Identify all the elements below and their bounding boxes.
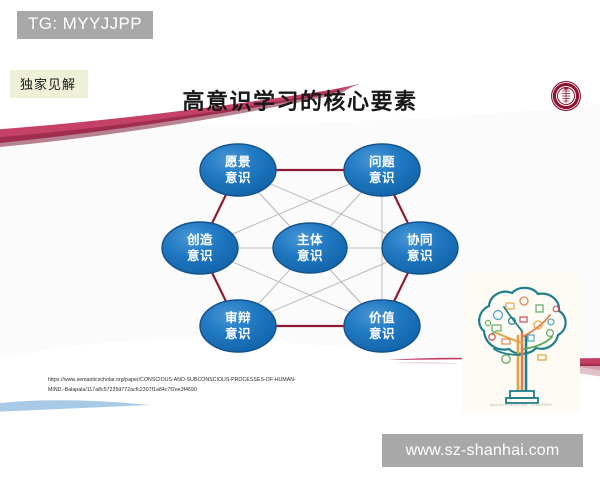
node-problem-label-1: 问题 (369, 154, 395, 169)
node-critical-label-2: 意识 (225, 326, 251, 341)
node-critical-label-1: 审辩 (225, 310, 251, 325)
node-collaboration[interactable]: 协同 意识 (382, 222, 458, 274)
node-problem-label-2: 意识 (369, 170, 395, 185)
node-value[interactable]: 价值 意识 (344, 300, 420, 352)
node-creation[interactable]: 创造 意识 (162, 222, 238, 274)
node-problem[interactable]: 问题 意识 (344, 144, 420, 196)
university-seal-icon (550, 80, 582, 112)
slide-canvas: 独家见解 高意识学习的核心要素 (0, 60, 600, 412)
node-vision-label-1: 愿景 (225, 154, 251, 169)
node-value-label-1: 价值 (369, 310, 395, 325)
stock-photo-caption: www.shutterstock.com · 1035129876 (462, 403, 580, 407)
brain-tree-illustration: www.shutterstock.com · 1035129876 (462, 273, 580, 412)
node-subject-center[interactable]: 主体 意识 (273, 223, 347, 273)
site-watermark: www.sz-shanhai.com (382, 434, 583, 467)
node-vision[interactable]: 愿景 意识 (200, 144, 276, 196)
page-title: 高意识学习的核心要素 (0, 84, 600, 116)
citation-line-1: https://www.semanticscholar.org/paper/CO… (48, 376, 448, 386)
node-creation-label-1: 创造 (186, 232, 213, 247)
telegram-watermark: TG: MYYJJPP (17, 11, 153, 39)
node-value-label-2: 意识 (369, 326, 395, 341)
node-critical[interactable]: 审辩 意识 (200, 300, 276, 352)
citation-line-2: MIND.-Balapala/117a8c57235d772acfc2307f1… (48, 386, 448, 396)
node-collaboration-label-2: 意识 (407, 248, 433, 263)
core-elements-diagram: 愿景 意识 问题 意识 协同 意识 价值 意识 审辩 意识 (160, 128, 460, 368)
source-citation: https://www.semanticscholar.org/paper/CO… (48, 376, 448, 395)
node-subject-label-2: 意识 (297, 248, 323, 263)
node-creation-label-2: 意识 (187, 248, 213, 263)
node-subject-label-1: 主体 (297, 232, 323, 247)
node-collaboration-label-1: 协同 (407, 232, 433, 247)
node-vision-label-2: 意识 (225, 170, 251, 185)
